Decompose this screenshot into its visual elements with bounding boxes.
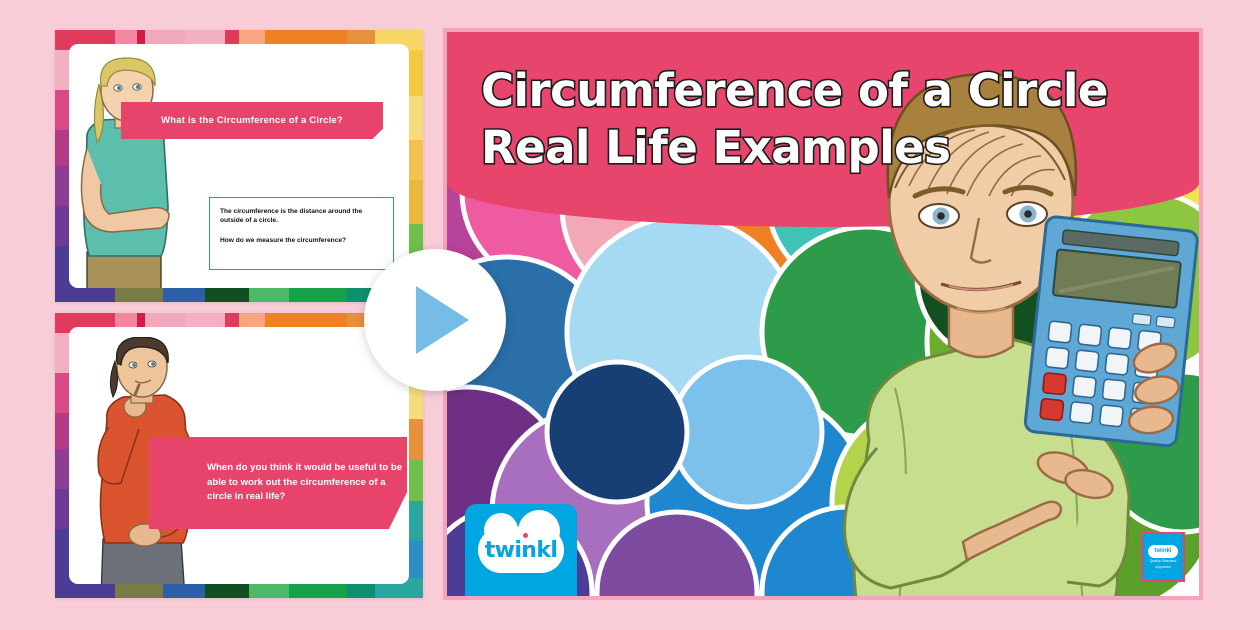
slide-thumbnail-1[interactable]: What is the Circumference of a Circle? T… [55, 30, 423, 302]
slide-1-canvas: What is the Circumference of a Circle? T… [69, 44, 409, 288]
page-title: Circumference of a Circle Real Life Exam… [481, 62, 1181, 176]
slide-1-ribbon-title: What is the Circumference of a Circle? [121, 102, 383, 139]
slide-1-paragraph-2: How do we measure the circumference? [220, 236, 383, 245]
slide-1-textbox: The circumference is the distance around… [209, 197, 394, 270]
play-button[interactable] [364, 249, 506, 391]
girl-thinking-illustration [69, 56, 195, 288]
screenshot-root: What is the Circumference of a Circle? T… [0, 0, 1260, 630]
twinkl-logo: twinkl [465, 504, 577, 596]
slide-thumbnail-2[interactable]: When do you think it would be useful to … [55, 313, 423, 598]
twinkl-wordmark: twinkl [485, 538, 558, 563]
slide-1-paragraph-1: The circumference is the distance around… [220, 207, 383, 225]
badge-line-1: Quality Standard [1150, 559, 1177, 564]
twinkl-dot [523, 533, 528, 538]
slide-2-ribbon-title: When do you think it would be useful to … [149, 437, 407, 529]
badge-line-2: Approved [1155, 565, 1170, 570]
badge-wordmark: twinkl [1148, 545, 1178, 558]
slide-2-canvas: When do you think it would be useful to … [69, 327, 409, 584]
main-preview-panel[interactable]: Circumference of a Circle Real Life Exam… [443, 28, 1203, 600]
main-preview-inner: Circumference of a Circle Real Life Exam… [447, 32, 1199, 596]
play-triangle-icon [416, 286, 469, 354]
quality-standard-badge: twinkl Quality Standard Approved [1141, 532, 1185, 582]
cloud-shape: twinkl [478, 527, 564, 573]
